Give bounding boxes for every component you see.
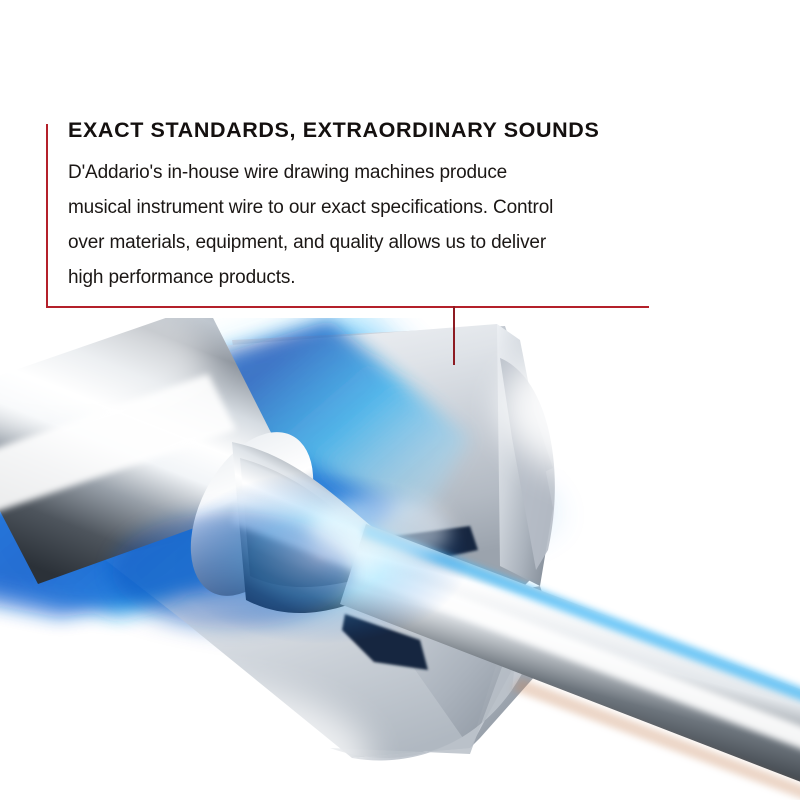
callout-bottom-rule	[46, 306, 649, 308]
body-line-2: musical instrument wire to our exact spe…	[68, 190, 658, 225]
product-feature-card: EXACT STANDARDS, EXTRAORDINARY SOUNDS D'…	[0, 0, 800, 800]
callout-left-rule	[46, 124, 48, 308]
body-line-3: over materials, equipment, and quality a…	[68, 225, 658, 260]
die-illustration-svg	[0, 318, 800, 800]
callout-leader-line	[453, 306, 455, 365]
headline: EXACT STANDARDS, EXTRAORDINARY SOUNDS	[68, 118, 668, 143]
body-line-4: high performance products.	[68, 260, 658, 295]
body-copy: D'Addario's in-house wire drawing machin…	[68, 155, 658, 295]
wire-drawing-die-illustration	[0, 318, 800, 800]
callout-text-block: EXACT STANDARDS, EXTRAORDINARY SOUNDS D'…	[68, 118, 668, 295]
body-line-1: D'Addario's in-house wire drawing machin…	[68, 155, 658, 190]
